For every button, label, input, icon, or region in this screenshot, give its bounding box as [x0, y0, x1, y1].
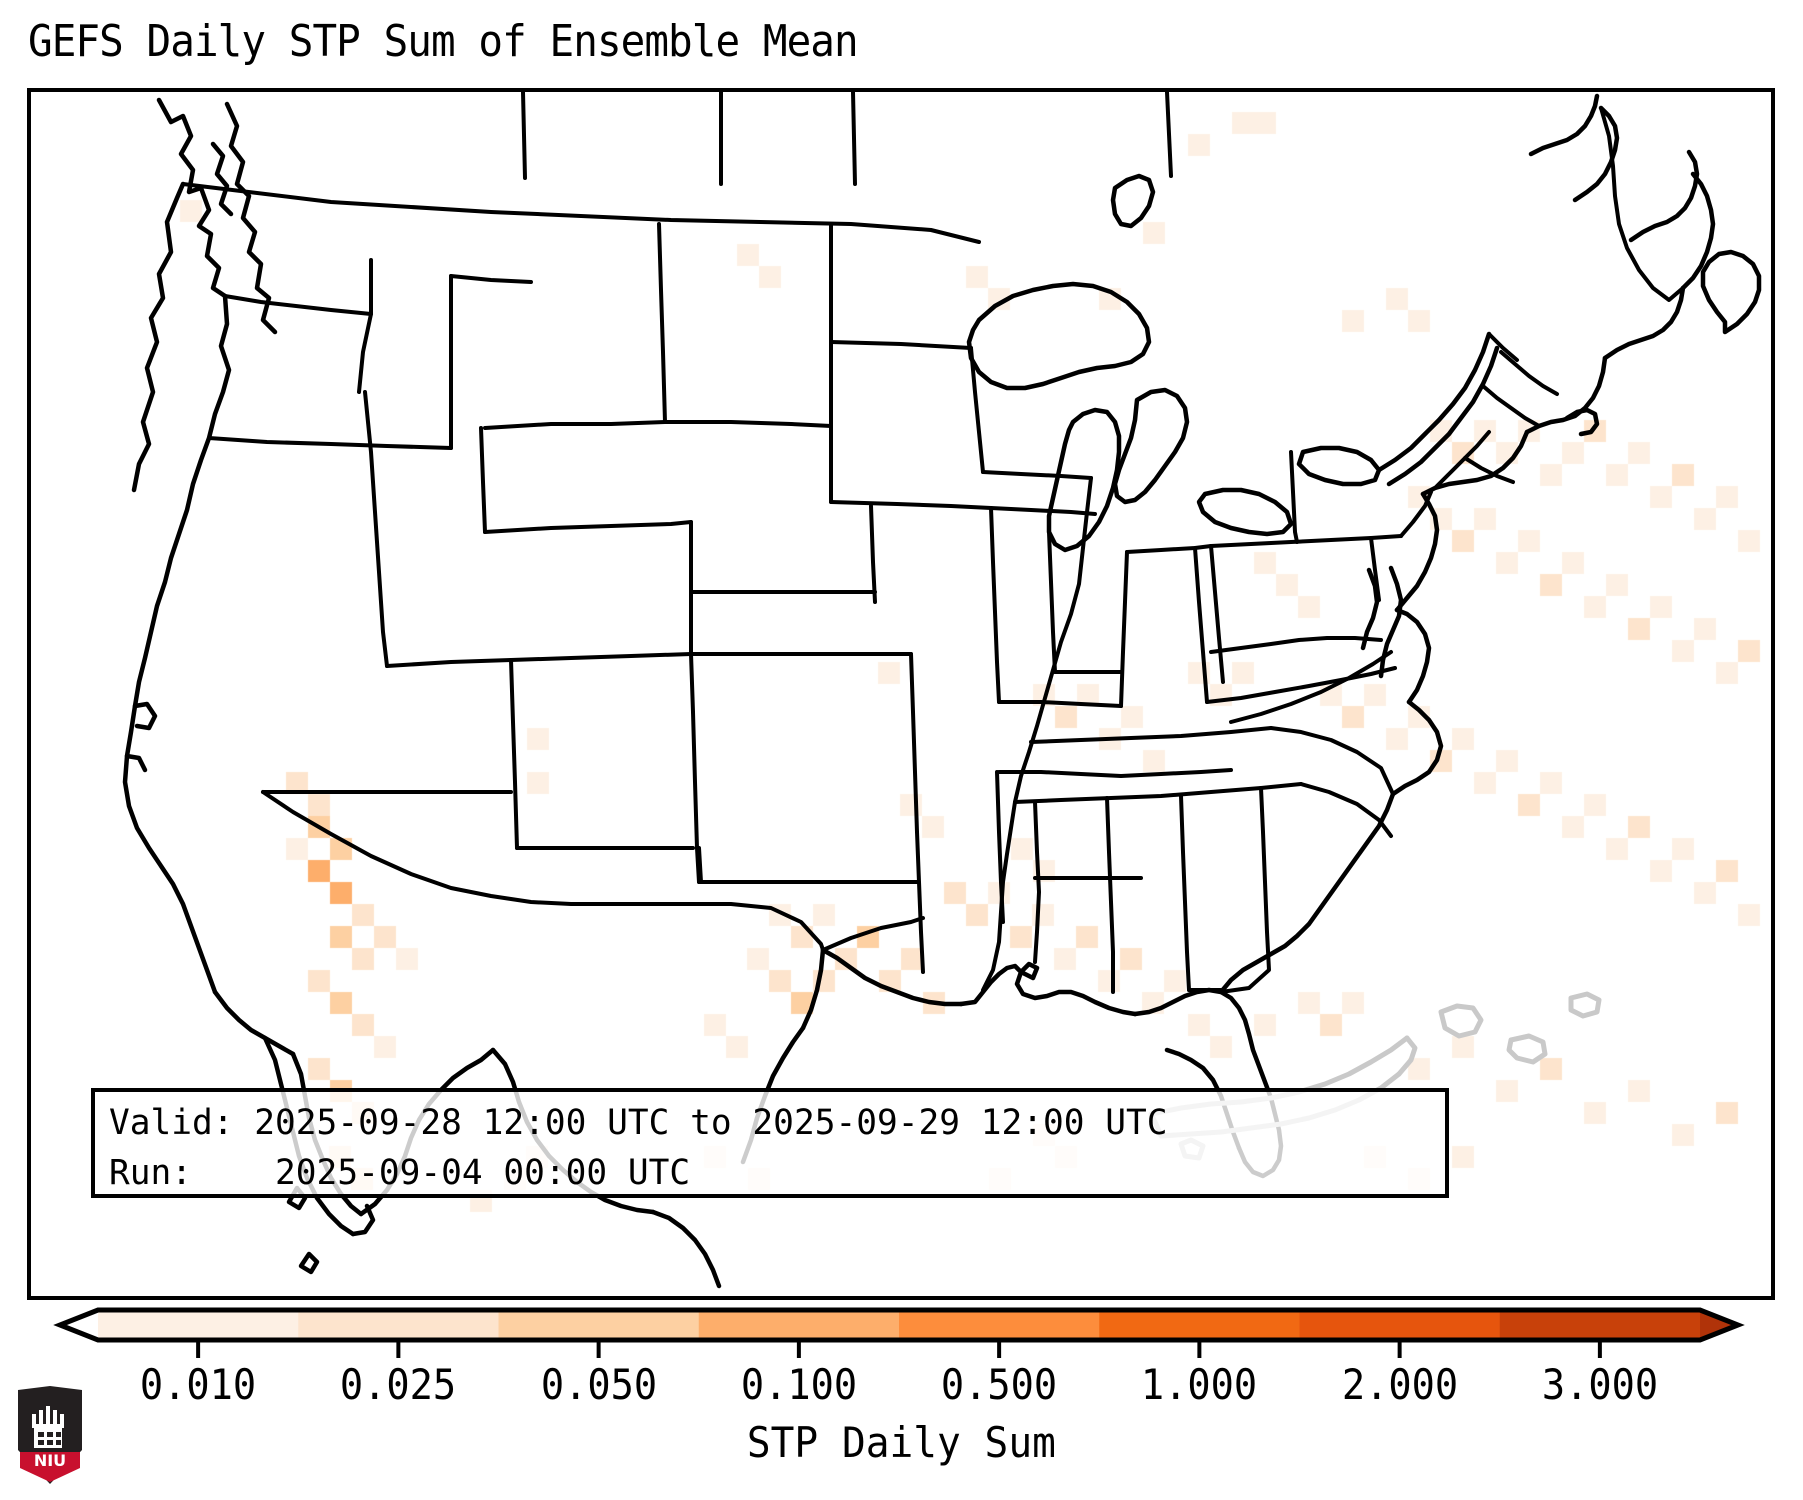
colorbar-ticks — [198, 1340, 1600, 1358]
colorbar-band — [499, 1310, 700, 1340]
colorbar-tick-label: 1.000 — [1141, 1360, 1257, 1409]
great-lakes-paths — [969, 176, 1497, 550]
colorbar-band — [98, 1310, 299, 1340]
info-box: Valid: 2025-09-28 12:00 UTC to 2025-09-2… — [91, 1088, 1449, 1198]
run-time-line: Run: 2025-09-04 00:00 UTC — [109, 1148, 1411, 1198]
colorbar-band — [1099, 1310, 1300, 1340]
colorbar-band — [899, 1310, 1100, 1340]
colorbar-axis-label: STP Daily Sum — [0, 1418, 1803, 1467]
colorbar-tick-label: 0.050 — [540, 1360, 656, 1409]
colorbar-tick-label: 0.025 — [340, 1360, 456, 1409]
colorbar-tick-labels: 0.0100.0250.0500.1000.5001.0002.0003.000 — [0, 1360, 1803, 1408]
colorbar-band — [1300, 1310, 1501, 1340]
colorbar-tick-label: 0.010 — [140, 1360, 256, 1409]
colorbar-tick-label: 0.500 — [941, 1360, 1057, 1409]
colorbar — [0, 1300, 1803, 1360]
page-title: GEFS Daily STP Sum of Ensemble Mean — [28, 16, 858, 67]
colorbar-tick-label: 0.100 — [741, 1360, 857, 1409]
colorbar-band — [1500, 1310, 1701, 1340]
political-border-paths — [183, 92, 1683, 992]
valid-time-line: Valid: 2025-09-28 12:00 UTC to 2025-09-2… — [109, 1098, 1411, 1148]
map-plot-area: Valid: 2025-09-28 12:00 UTC to 2025-09-2… — [27, 88, 1775, 1300]
colorbar-tick-label: 2.000 — [1341, 1360, 1457, 1409]
colorbar-tick-label: 3.000 — [1542, 1360, 1658, 1409]
colorbar-band — [298, 1310, 499, 1340]
colorbar-band — [699, 1310, 900, 1340]
logo-text: NIU — [34, 1451, 66, 1470]
niu-logo: NIU — [14, 1386, 86, 1486]
colorbar-axis-label-text: STP Daily Sum — [747, 1418, 1056, 1467]
colorbar-bands — [60, 1310, 1738, 1340]
